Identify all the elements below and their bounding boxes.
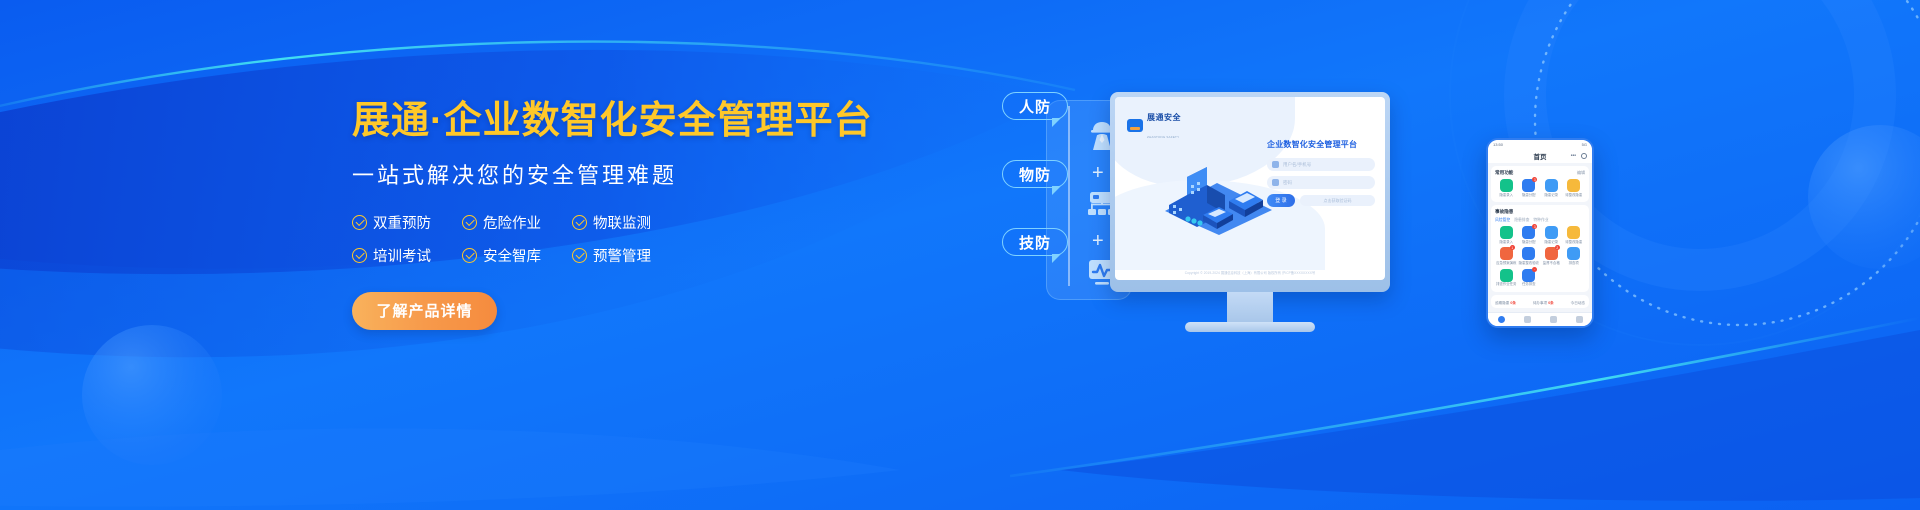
section-edit-action[interactable]: 编辑 [1577, 170, 1585, 176]
check-icon [572, 215, 587, 230]
grid-item[interactable]: 2 监督不合格 [1540, 247, 1563, 265]
learn-more-button[interactable]: 了解产品详情 [352, 292, 497, 330]
plus-sign: + [1092, 162, 1104, 185]
pending-hazard-icon [1567, 179, 1580, 192]
feature-label: 安全智库 [483, 245, 541, 266]
page-title: 展通·企业数智化安全管理平台 [352, 100, 952, 144]
hero-banner: 展通·企业数智化安全管理平台 一站式解决您的安全管理难题 双重预防 危险作业 物… [0, 0, 1920, 510]
hazard-assign-icon: 3 [1522, 226, 1535, 239]
feature-label: 物联监测 [593, 212, 651, 233]
plus-sign: + [1092, 230, 1104, 253]
section-accident-hazards: 事故隐患 风险管控 隐患排查 特种作业 隐患录入 3 [1491, 205, 1589, 292]
workbench-icon[interactable] [1550, 316, 1557, 323]
status-signal: 5G [1582, 142, 1587, 147]
grid-item-label: 应急预案演练 [1496, 262, 1516, 266]
grid-item[interactable]: 排查项 [1563, 247, 1586, 265]
grid-item[interactable]: 1 应急预案演练 [1495, 247, 1518, 265]
inspection-task-icon [1500, 269, 1513, 282]
profile-icon[interactable] [1576, 316, 1583, 323]
background-decoration [0, 0, 1920, 510]
section-tabs: 风险管控 隐患排查 特种作业 [1495, 218, 1585, 223]
icon-grid: 隐患录入 3 隐患分配 隐患记录 待整改隐患 [1495, 179, 1585, 200]
check-icon [462, 215, 477, 230]
username-field[interactable]: 用户名/手机号 [1267, 158, 1375, 171]
tab-hazard-inspection[interactable]: 隐患排查 [1514, 218, 1529, 223]
password-placeholder: 密码 [1283, 180, 1292, 186]
tab-risk-control[interactable]: 风险管控 [1495, 218, 1510, 223]
section-title: 事故隐患 [1495, 209, 1513, 215]
feature-item: 安全智库 [462, 245, 572, 266]
check-icon [462, 248, 477, 263]
login-panel: 企业数智化安全管理平台 用户名/手机号 密码 登 录 点击获取验证码 [1267, 139, 1375, 207]
stat-today: 今日动态 [1571, 301, 1585, 306]
message-icon[interactable] [1524, 316, 1531, 323]
emergency-drill-icon: 1 [1500, 247, 1513, 260]
feature-label: 预警管理 [593, 245, 651, 266]
lock-icon [1272, 179, 1279, 186]
feature-item: 双重预防 [352, 212, 462, 233]
grid-item[interactable]: 隐患记录 [1540, 179, 1563, 197]
login-panel-title: 企业数智化安全管理平台 [1267, 139, 1375, 150]
check-icon [352, 215, 367, 230]
feature-item: 危险作业 [462, 212, 572, 233]
more-dots-icon[interactable]: ••• [1571, 153, 1576, 159]
phone-nav-title: 首页 [1534, 151, 1547, 161]
supervision-fail-icon: 2 [1545, 247, 1558, 260]
section-title: 常用功能 [1495, 170, 1513, 176]
monitor-neck [1227, 292, 1273, 322]
pending-hazard-icon [1567, 226, 1580, 239]
grid-item[interactable]: 3 隐患分配 [1518, 179, 1541, 197]
feature-item: 物联监测 [572, 212, 682, 233]
grid-item[interactable]: 隐患录入 [1495, 179, 1518, 197]
feature-item: 培训考试 [352, 245, 462, 266]
desktop-monitor: 展通安全 ZHANTONG SAFETY [1110, 92, 1390, 332]
badge-count: 1 [1510, 245, 1515, 250]
logo-subtext: ZHANTONG SAFETY [1147, 135, 1179, 139]
logo-mark-icon [1127, 119, 1143, 132]
icon-grid: 隐患录入 3 隐患分配 隐患记录 待整改隐患 [1495, 226, 1585, 290]
phone-tab-bar [1488, 312, 1592, 326]
stat-todo: 待办事项 0条 [1533, 301, 1554, 306]
grid-item-label: 隐患分配 [1522, 241, 1536, 245]
captcha-field[interactable]: 点击获取验证码 [1300, 195, 1375, 206]
task-inspection-icon: - [1522, 269, 1535, 282]
rail-tag-jifang[interactable]: 技防 [1002, 228, 1068, 256]
monitor-screen: 展通安全 ZHANTONG SAFETY [1115, 97, 1385, 280]
logo-text: 展通安全 [1147, 113, 1181, 122]
hazard-entry-icon [1500, 179, 1513, 192]
status-time: 13:50 [1493, 142, 1503, 147]
badge-count: 2 [1555, 245, 1560, 250]
badge-count: 3 [1532, 224, 1537, 229]
stat-overdue: 逾期隐患 0条 [1495, 301, 1516, 306]
gear-icon[interactable] [1581, 153, 1587, 159]
rail-connector-line [1068, 106, 1070, 286]
rectification-accept-icon [1522, 247, 1535, 260]
page-subtitle: 一站式解决您的安全管理难题 [352, 158, 952, 190]
grid-item[interactable]: 3 隐患分配 [1518, 226, 1541, 244]
isometric-city-illustration [1147, 155, 1287, 235]
grid-item-label: 隐患录入 [1499, 241, 1513, 245]
rail-tag-renfang[interactable]: 人防 [1002, 92, 1068, 120]
tab-special-operation[interactable]: 特种作业 [1533, 218, 1548, 223]
login-button[interactable]: 登 录 [1267, 194, 1295, 207]
grid-item-label: 待整改隐患 [1565, 194, 1582, 198]
phone-status-bar: 13:50 5G [1488, 140, 1592, 149]
rail-tag-wufang[interactable]: 物防 [1002, 160, 1068, 188]
grid-item[interactable]: 隐患记录 [1540, 226, 1563, 244]
grid-item-label: 隐患分配 [1522, 194, 1536, 198]
grid-item-label: 隐患整改验收 [1519, 262, 1539, 266]
feature-item: 预警管理 [572, 245, 682, 266]
monitor-base [1185, 322, 1315, 332]
copyright-text: Copyright © 2019-2024 展通信息科技（上海）有限公司 版权所… [1115, 270, 1385, 275]
section-common-functions: 常用功能 编辑 隐患录入 3 隐患分配 [1491, 166, 1589, 202]
grid-item-label: 隐患录入 [1499, 194, 1513, 198]
monitor-frame: 展通安全 ZHANTONG SAFETY [1110, 92, 1390, 292]
grid-item-label: 监督不合格 [1543, 262, 1560, 266]
hazard-record-icon [1545, 179, 1558, 192]
grid-item[interactable]: 隐患录入 [1495, 226, 1518, 244]
hazard-assign-icon: 3 [1522, 179, 1535, 192]
grid-item-label: 待整改隐患 [1565, 241, 1582, 245]
phone-content: 常用功能 编辑 隐患录入 3 隐患分配 [1488, 163, 1592, 328]
hazard-record-icon [1545, 226, 1558, 239]
feature-label: 双重预防 [373, 212, 431, 233]
check-icon [572, 248, 587, 263]
grid-item-label: 排查项 [1569, 262, 1579, 266]
badge-count: 3 [1532, 177, 1537, 182]
inspection-item-icon [1567, 247, 1580, 260]
grid-item-label: 任务排查 [1522, 283, 1536, 287]
feature-label: 培训考试 [373, 245, 431, 266]
hazard-entry-icon [1500, 226, 1513, 239]
home-icon[interactable] [1498, 316, 1505, 323]
grid-item[interactable]: - 任务排查 [1518, 269, 1541, 287]
mobile-phone-mockup: 13:50 5G 首页 ••• 常用功能 编辑 隐患录入 [1486, 138, 1594, 328]
grid-item[interactable]: 待整改隐患 [1563, 179, 1586, 197]
feature-list: 双重预防 危险作业 物联监测 培训考试 安全智库 [352, 212, 682, 278]
grid-item[interactable]: 待整改隐患 [1563, 226, 1586, 244]
password-field[interactable]: 密码 [1267, 176, 1375, 189]
grid-item-label: 隐患记录 [1544, 241, 1558, 245]
grid-item-label: 隐患记录 [1544, 194, 1558, 198]
user-icon [1272, 161, 1279, 168]
hero-copy: 展通·企业数智化安全管理平台 一站式解决您的安全管理难题 双重预防 危险作业 物… [352, 100, 952, 330]
section-stats: 逾期隐患 0条 待办事项 0条 今日动态 [1491, 295, 1589, 308]
product-logo: 展通安全 ZHANTONG SAFETY [1127, 107, 1181, 143]
badge-count: - [1532, 267, 1537, 272]
username-placeholder: 用户名/手机号 [1283, 162, 1311, 168]
phone-nav-bar: 首页 ••• [1488, 149, 1592, 163]
grid-item-label: 排查作业任务 [1496, 283, 1516, 287]
grid-item[interactable]: 排查作业任务 [1495, 269, 1518, 287]
feature-label: 危险作业 [483, 212, 541, 233]
check-icon [352, 248, 367, 263]
grid-item[interactable]: 隐患整改验收 [1518, 247, 1541, 265]
